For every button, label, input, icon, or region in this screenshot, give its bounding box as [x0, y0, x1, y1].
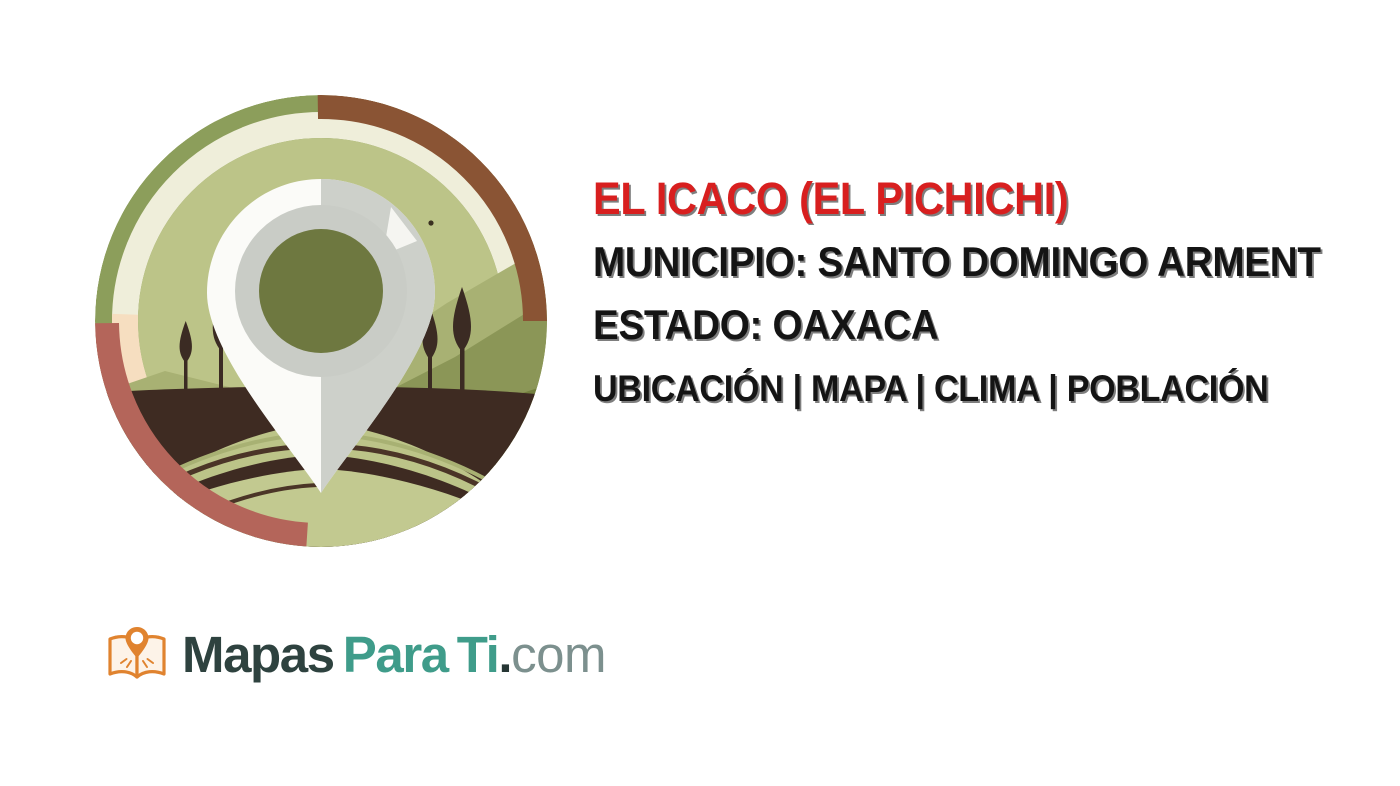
open-book-map-pin-icon: [104, 621, 170, 687]
brand-word-com: com: [511, 626, 606, 683]
brand-emblem-circle: [95, 95, 547, 547]
emblem-artwork: [95, 95, 547, 547]
emblem-speck-dot: [428, 220, 433, 225]
estado-line: ESTADO: OAXACA: [593, 304, 1347, 346]
brand-wordmark: MapasParaTi.com: [182, 629, 606, 680]
brand-word-dot: .: [498, 626, 511, 683]
section-links-line[interactable]: UBICACIÓN | MAPA | CLIMA | POBLACIÓN: [593, 370, 1347, 407]
brand-word-para: Para: [343, 626, 448, 683]
location-info-block: EL ICACO (EL PICHICHI) MUNICIPIO: SANTO …: [593, 176, 1400, 407]
brand-word-ti: Ti: [457, 626, 499, 683]
page-title: EL ICACO (EL PICHICHI): [593, 176, 1347, 221]
brand-logo[interactable]: MapasParaTi.com: [104, 618, 606, 690]
municipio-line: MUNICIPIO: SANTO DOMINGO ARMENT: [593, 241, 1347, 283]
brand-word-mapas: Mapas: [182, 626, 334, 683]
